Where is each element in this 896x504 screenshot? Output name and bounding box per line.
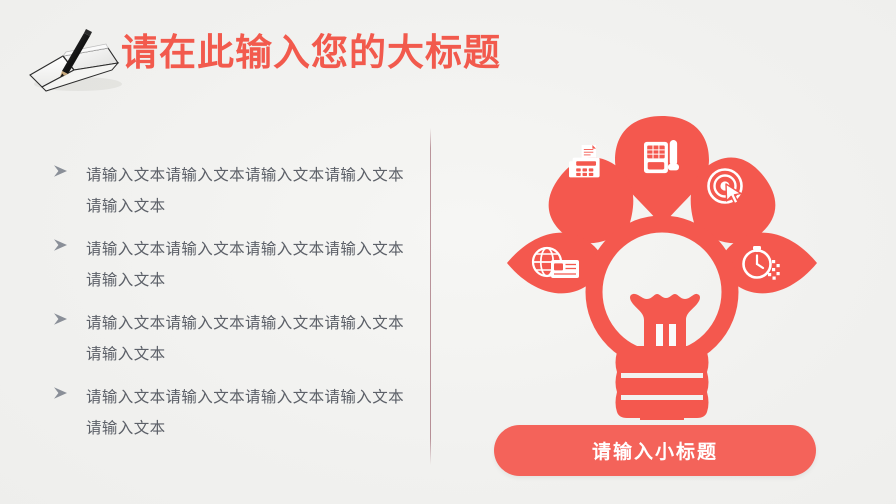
lightbulb-petals-diagram <box>497 98 827 420</box>
lightbulb-icon <box>594 224 730 420</box>
list-item-text: 请输入文本请输入文本请输入文本请输入文本请输入文本 <box>86 308 416 370</box>
subtitle-button[interactable]: 请输入小标题 <box>494 425 816 476</box>
list-item[interactable]: 请输入文本请输入文本请输入文本请输入文本请输入文本 <box>52 160 422 222</box>
arrow-bullet-icon <box>52 384 70 402</box>
page-title: 请在此输入您的大标题 <box>121 29 501 77</box>
arrow-bullet-icon <box>52 162 70 180</box>
list-item[interactable]: 请输入文本请输入文本请输入文本请输入文本请输入文本 <box>52 308 422 370</box>
vertical-divider <box>430 128 431 465</box>
list-item[interactable]: 请输入文本请输入文本请输入文本请输入文本请输入文本 <box>52 382 422 444</box>
fax-machine-icon <box>569 145 600 177</box>
arrow-bullet-icon <box>52 310 70 328</box>
slide-header: 请在此输入您的大标题 <box>0 0 896 105</box>
arrow-bullet-icon <box>52 236 70 254</box>
list-item-text: 请输入文本请输入文本请输入文本请输入文本请输入文本 <box>86 382 416 444</box>
notebook-pen-icon <box>22 18 130 98</box>
slide-canvas: 请在此输入您的大标题 请输入文本请输入文本请输入文本请输入文本请输入文本 请输入… <box>0 0 896 504</box>
list-item[interactable]: 请输入文本请输入文本请输入文本请输入文本请输入文本 <box>52 234 422 296</box>
list-item-text: 请输入文本请输入文本请输入文本请输入文本请输入文本 <box>86 160 416 222</box>
list-item-text: 请输入文本请输入文本请输入文本请输入文本请输入文本 <box>86 234 416 296</box>
telephone-keypad-icon <box>644 140 679 173</box>
subtitle-button-label: 请输入小标题 <box>592 437 718 464</box>
bullet-list: 请输入文本请输入文本请输入文本请输入文本请输入文本 请输入文本请输入文本请输入文… <box>52 160 422 456</box>
